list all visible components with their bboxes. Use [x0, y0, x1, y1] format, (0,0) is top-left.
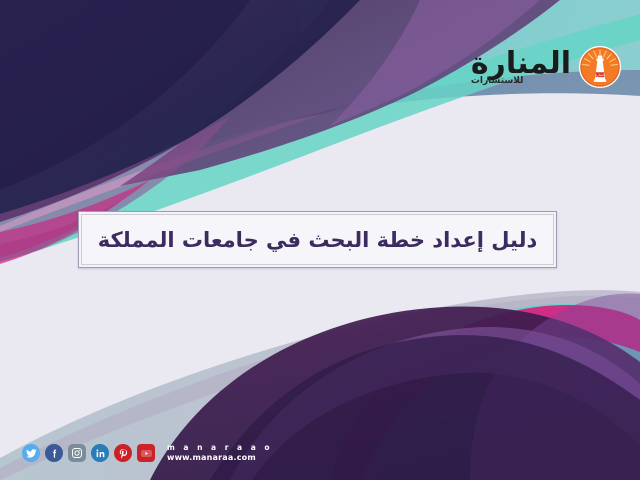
facebook-icon[interactable]: [45, 444, 63, 462]
linkedin-icon[interactable]: [91, 444, 109, 462]
title-frame: دليل إعداد خطة البحث في جامعات المملكة: [78, 211, 557, 268]
brand-name: المنارة: [471, 48, 571, 80]
page-title: دليل إعداد خطة البحث في جامعات المملكة: [98, 228, 537, 252]
footer-website-url[interactable]: www.manaraa.com: [167, 453, 273, 462]
lighthouse-icon: المنارة: [578, 45, 622, 89]
footer-social-bar: m a n a r a a o www.manaraa.com: [22, 444, 273, 462]
slide-canvas: المنارة المنارة للاستشارات دليل إعداد خط…: [0, 0, 640, 480]
title-inner-frame: دليل إعداد خطة البحث في جامعات المملكة: [81, 214, 554, 265]
brand-subtitle: للاستشارات: [471, 77, 524, 86]
youtube-icon[interactable]: [137, 444, 155, 462]
brand-logo: المنارة المنارة للاستشارات: [471, 45, 622, 89]
footer-brand-text: m a n a r a a o www.manaraa.com: [167, 444, 273, 462]
svg-text:المنارة: المنارة: [595, 73, 605, 77]
twitter-icon[interactable]: [22, 444, 40, 462]
instagram-icon[interactable]: [68, 444, 86, 462]
brand-wordmark: المنارة للاستشارات: [471, 48, 571, 87]
pinterest-icon[interactable]: [114, 444, 132, 462]
footer-brand-name: m a n a r a a o: [167, 444, 273, 453]
